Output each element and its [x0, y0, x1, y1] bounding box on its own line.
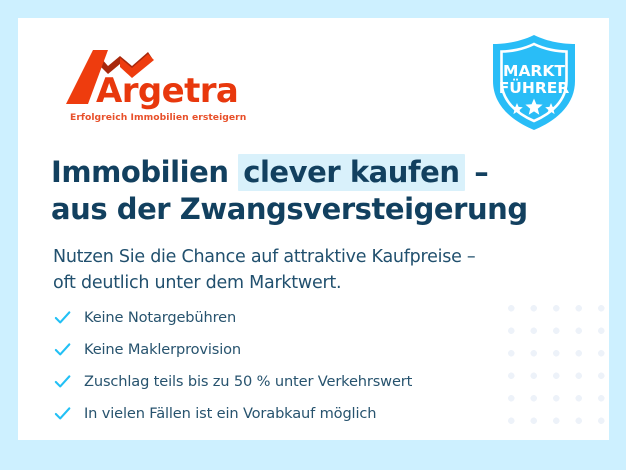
feature-label: Zuschlag teils bis zu 50 % unter Verkehr… — [84, 373, 412, 390]
check-icon — [53, 308, 72, 327]
badge-line2: FÜHRER — [499, 78, 570, 97]
feature-label: Keine Maklerprovision — [84, 341, 241, 358]
list-item: Zuschlag teils bis zu 50 % unter Verkehr… — [53, 365, 523, 397]
subheading-line2: oft deutlich unter dem Marktwert. — [53, 273, 341, 293]
badge-line1: MARKT — [503, 62, 565, 80]
check-icon — [53, 372, 72, 391]
logo-wordmark: Argetra — [96, 74, 238, 108]
headline-highlight: clever kaufen — [238, 154, 464, 191]
headline-line1-after: – — [465, 155, 489, 189]
argetra-logo[interactable]: Argetra Erfolgreich Immobilien ersteiger… — [58, 44, 258, 128]
subheading: Nutzen Sie die Chance auf attraktive Kau… — [53, 244, 553, 297]
page-title: Immobilien clever kaufen –aus der Zwangs… — [51, 154, 571, 227]
feature-list: Keine Notargebühren Keine Maklerprovisio… — [53, 301, 523, 429]
subheading-line1: Nutzen Sie die Chance auf attraktive Kau… — [53, 247, 475, 267]
promo-banner: Argetra Erfolgreich Immobilien ersteiger… — [0, 0, 626, 470]
check-icon — [53, 340, 72, 359]
headline-line2: aus der Zwangsversteigerung — [51, 192, 528, 226]
feature-label: In vielen Fällen ist ein Vorabkauf mögli… — [84, 405, 376, 422]
banner-card: Argetra Erfolgreich Immobilien ersteiger… — [18, 18, 609, 440]
logo-tagline: Erfolgreich Immobilien ersteigern — [70, 112, 246, 123]
feature-label: Keine Notargebühren — [84, 309, 236, 326]
check-icon — [53, 404, 72, 423]
list-item: In vielen Fällen ist ein Vorabkauf mögli… — [53, 397, 523, 429]
list-item: Keine Notargebühren — [53, 301, 523, 333]
shield-badge-icon: MARKT FÜHRER — [486, 33, 582, 133]
list-item: Keine Maklerprovision — [53, 333, 523, 365]
headline-line1-before: Immobilien — [51, 155, 238, 189]
markt-fuehrer-badge: MARKT FÜHRER — [486, 33, 582, 133]
